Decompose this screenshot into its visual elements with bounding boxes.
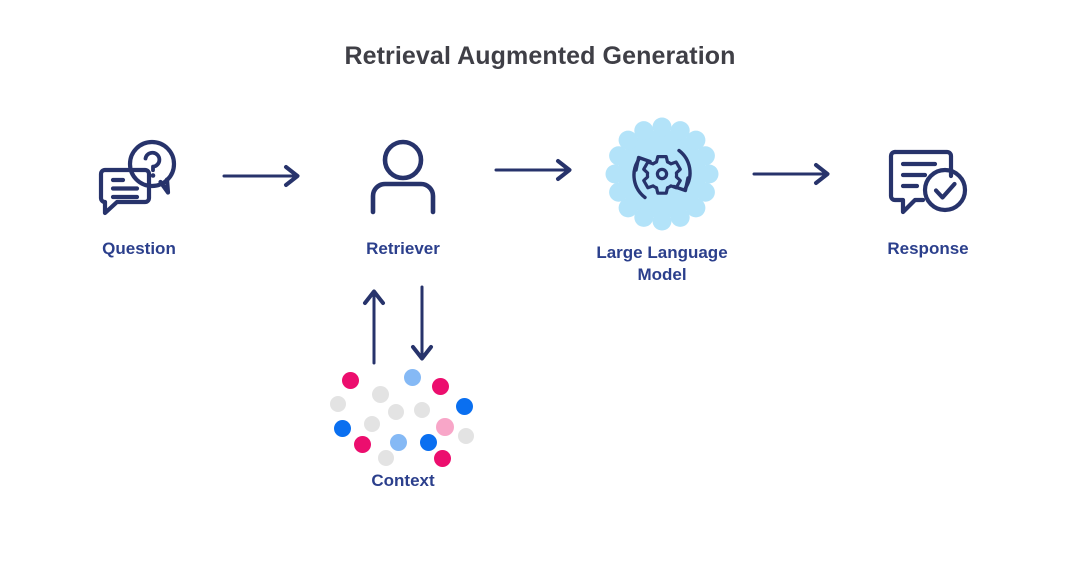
context-dot [364, 416, 380, 432]
context-dot [372, 386, 389, 403]
context-dot [354, 436, 371, 453]
arrow-retriever-to-context [408, 285, 436, 370]
arrow-up-icon [360, 285, 388, 365]
arrow-right-icon [494, 156, 578, 184]
node-llm[interactable]: Large Language Model [572, 112, 752, 287]
arrow-right-icon [752, 160, 836, 188]
node-label-response: Response [838, 238, 1018, 260]
context-dot [432, 378, 449, 395]
person-icon [313, 122, 493, 232]
document-check-icon [838, 122, 1018, 232]
context-dot-cluster [328, 368, 478, 460]
arrow-context-to-retriever [360, 285, 388, 370]
diagram-canvas: Retrieval Augmented Generation Q [0, 0, 1080, 561]
arrow-down-icon [408, 285, 436, 365]
node-context[interactable]: Context [313, 368, 493, 492]
page-title: Retrieval Augmented Generation [0, 42, 1080, 71]
node-retriever[interactable]: Retriever [313, 122, 493, 260]
node-label-llm: Large Language Model [572, 242, 752, 287]
arrow-right-icon [222, 162, 306, 190]
node-label-context: Context [313, 470, 493, 492]
scatter-dots-icon [313, 368, 493, 460]
question-chat-icon [49, 122, 229, 232]
context-dot [342, 372, 359, 389]
context-dot [378, 450, 394, 466]
context-dot [404, 369, 421, 386]
node-label-retriever: Retriever [313, 238, 493, 260]
context-dot [434, 450, 451, 467]
arrow-llm-to-response [752, 160, 836, 193]
context-dot [390, 434, 407, 451]
context-dot [330, 396, 346, 412]
burst-shape [606, 118, 719, 231]
context-dot [458, 428, 474, 444]
node-label-question: Question [49, 238, 229, 260]
context-dot [334, 420, 351, 437]
llm-burst-gear-icon [572, 112, 752, 236]
arrow-question-to-retriever [222, 162, 306, 195]
context-dot [414, 402, 430, 418]
context-dot [436, 418, 454, 436]
node-question[interactable]: Question [49, 122, 229, 260]
context-dot [388, 404, 404, 420]
context-dot [456, 398, 473, 415]
arrow-retriever-to-llm [494, 156, 578, 189]
node-response[interactable]: Response [838, 122, 1018, 260]
context-dot [420, 434, 437, 451]
